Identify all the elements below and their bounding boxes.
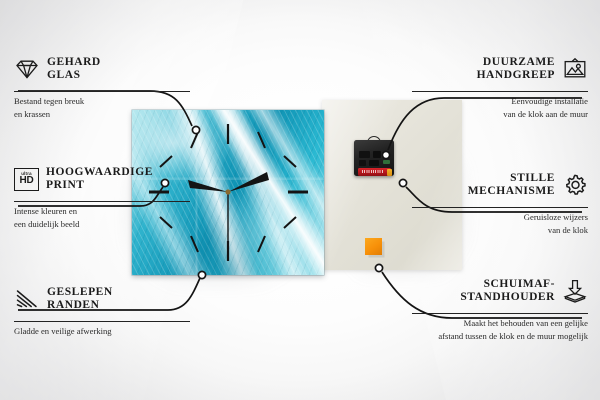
movement-detail — [359, 160, 366, 166]
feature-divider — [412, 313, 588, 314]
infographic-canvas: GEHARD GLAS Bestand tegen breuk en krass… — [0, 0, 600, 400]
feature-header: SCHUIMAF- STANDHOUDER — [412, 270, 588, 312]
feature-hoogwaardige-print: ultra HD HOOGWAARDIGE PRINT Intense kleu… — [14, 158, 190, 230]
feature-description: Maakt het behouden van een gelijke afsta… — [412, 317, 588, 341]
movement-detail — [359, 151, 370, 158]
battery — [358, 168, 391, 176]
feature-divider — [14, 201, 190, 202]
movement-body — [354, 140, 394, 176]
feature-divider — [14, 321, 190, 322]
feature-description: Gladde en veilige afwerking — [14, 325, 190, 337]
movement-chip — [383, 160, 390, 164]
feature-description: Intense kleuren en een duidelijk beeld — [14, 205, 190, 229]
feature-gehard-glas: GEHARD GLAS Bestand tegen breuk en krass… — [14, 48, 190, 120]
feature-description: Eenvoudige installatie van de klok aan d… — [412, 95, 588, 119]
ultra-hd-large-text: HD — [19, 176, 33, 186]
feature-title: HOOGWAARDIGE PRINT — [46, 166, 153, 192]
feature-divider — [412, 91, 588, 92]
clock-hands — [188, 172, 269, 260]
press-pad-icon — [562, 278, 588, 304]
feature-title: GESLEPEN RANDEN — [47, 286, 113, 312]
foam-spacer-pad — [365, 238, 382, 255]
feature-description: Geruisloze wijzers van de klok — [412, 211, 588, 235]
feature-title: GEHARD GLAS — [47, 56, 101, 82]
battery-terminal — [387, 169, 392, 176]
feature-header: GEHARD GLAS — [14, 48, 190, 90]
feature-title: STILLE MECHANISME — [468, 172, 555, 198]
feature-header: DUURZAME HANDGREEP — [412, 48, 588, 90]
feature-header: STILLE MECHANISME — [412, 164, 588, 206]
feature-divider — [412, 207, 588, 208]
feature-schuimafstandhouder: SCHUIMAF- STANDHOUDER Maakt het behouden… — [412, 270, 588, 342]
feature-geslepen-randen: GESLEPEN RANDEN Gladde en veilige afwerk… — [14, 278, 190, 338]
feature-duurzame-handgreep: DUURZAME HANDGREEP Eenvoudige installati… — [412, 48, 588, 120]
movement-detail — [373, 151, 381, 158]
feature-title: SCHUIMAF- STANDHOUDER — [460, 278, 555, 304]
gear-icon — [562, 172, 588, 198]
quartz-movement — [354, 136, 394, 176]
feature-divider — [14, 91, 190, 92]
movement-detail — [369, 160, 379, 166]
diamond-icon — [14, 56, 40, 82]
feature-title: DUURZAME HANDGREEP — [477, 56, 555, 82]
feature-description: Bestand tegen breuk en krassen — [14, 95, 190, 119]
battery-label — [362, 170, 384, 173]
beveled-edges-icon — [14, 286, 40, 312]
picture-frame-icon — [562, 56, 588, 82]
feature-stille-mechanisme: STILLE MECHANISME Geruisloze wijzers van… — [412, 164, 588, 236]
ultra-hd-badge-icon: ultra HD — [14, 168, 39, 191]
feature-header: ultra HD HOOGWAARDIGE PRINT — [14, 158, 190, 200]
feature-header: GESLEPEN RANDEN — [14, 278, 190, 320]
